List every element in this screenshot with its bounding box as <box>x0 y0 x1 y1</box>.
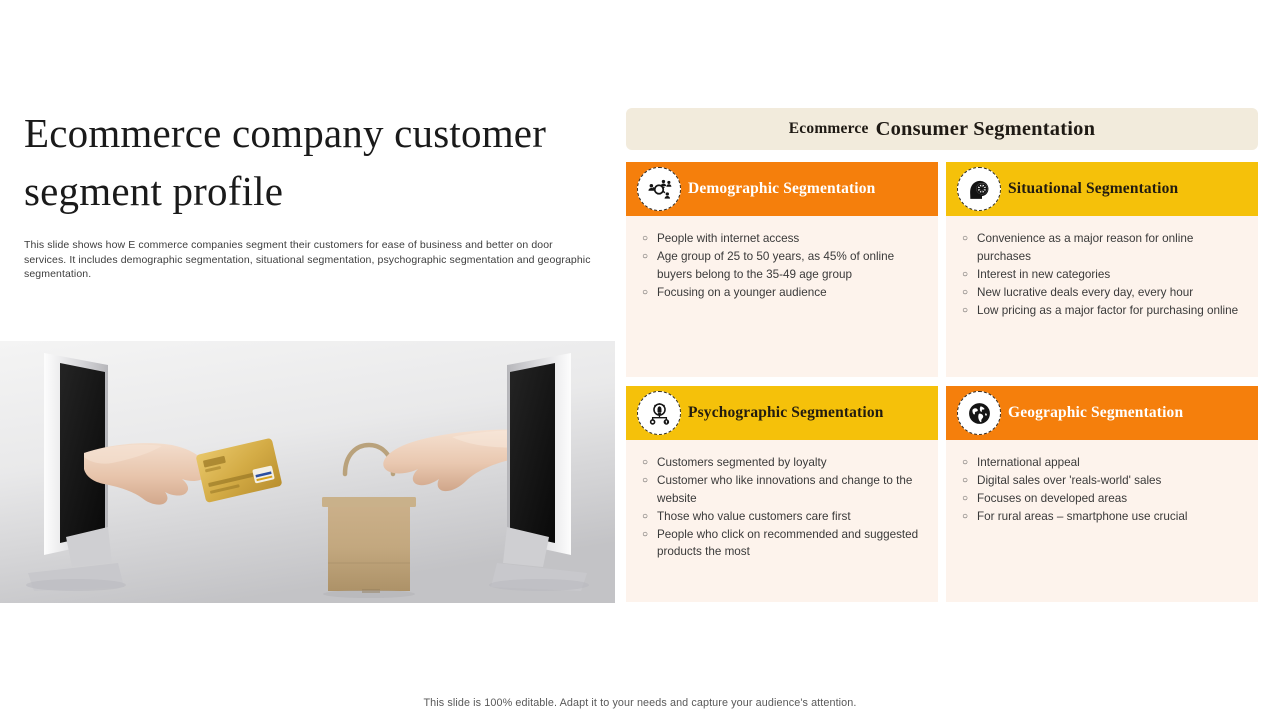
card-title-situational: Situational Segmentation <box>1008 180 1178 198</box>
bullet-marker: ○ <box>642 230 657 248</box>
bullet-text: International appeal <box>977 454 1246 472</box>
card-title-geographic: Geographic Segmentation <box>1008 404 1183 422</box>
list-item: ○ Age group of 25 to 50 years, as 45% of… <box>642 248 926 283</box>
bullet-list-situational: ○ Convenience as a major reason for onli… <box>962 230 1246 319</box>
bullet-text: For rural areas – smartphone use crucial <box>977 508 1246 526</box>
segmentation-panel: Ecommerce Consumer Segmentation <box>626 108 1258 602</box>
bullet-marker: ○ <box>642 526 657 544</box>
badge-situational <box>957 167 1001 211</box>
list-item: ○ Those who value customers care first <box>642 508 926 526</box>
banner-emphasis: Consumer Segmentation <box>876 118 1096 141</box>
card-body-psychographic: ○ Customers segmented by loyalty ○ Custo… <box>626 440 938 602</box>
list-item: ○ People who click on recommended and su… <box>642 526 926 561</box>
list-item: ○ Digital sales over 'reals-world' sales <box>962 472 1246 490</box>
bullet-marker: ○ <box>962 454 977 472</box>
slide-description: This slide shows how E commerce companie… <box>24 238 594 282</box>
list-item: ○ Focuses on developed areas <box>962 490 1246 508</box>
bullet-list-psychographic: ○ Customers segmented by loyalty ○ Custo… <box>642 454 926 561</box>
list-item: ○ New lucrative deals every day, every h… <box>962 284 1246 302</box>
list-item: ○ Focusing on a younger audience <box>642 284 926 302</box>
bullet-text: Digital sales over 'reals-world' sales <box>977 472 1246 490</box>
ecommerce-hands-monitors-photo <box>0 341 615 603</box>
list-item: ○ Customers segmented by loyalty <box>642 454 926 472</box>
list-item: ○ Interest in new categories <box>962 266 1246 284</box>
bullet-marker: ○ <box>962 490 977 508</box>
bullet-marker: ○ <box>962 230 977 248</box>
bullet-marker: ○ <box>962 302 977 320</box>
bullet-text: Convenience as a major reason for online… <box>977 230 1246 265</box>
card-situational[interactable]: Situational Segmentation ○ Convenience a… <box>946 162 1258 377</box>
slide-intro-block: Ecommerce company customer segment profi… <box>24 104 616 282</box>
list-item: ○ Low pricing as a major factor for purc… <box>962 302 1246 320</box>
page-title: Ecommerce company customer segment profi… <box>24 104 616 220</box>
bullet-marker: ○ <box>642 472 657 490</box>
list-item: ○ For rural areas – smartphone use cruci… <box>962 508 1246 526</box>
card-body-situational: ○ Convenience as a major reason for onli… <box>946 216 1258 377</box>
bullet-text: Customers segmented by loyalty <box>657 454 926 472</box>
banner-prefix: Ecommerce <box>789 120 869 138</box>
card-geographic[interactable]: Geographic Segmentation ○ International … <box>946 386 1258 602</box>
bullet-text: Focuses on developed areas <box>977 490 1246 508</box>
bullet-text: Those who value customers care first <box>657 508 926 526</box>
bullet-marker: ○ <box>642 508 657 526</box>
bullet-text: New lucrative deals every day, every hou… <box>977 284 1246 302</box>
panel-banner: Ecommerce Consumer Segmentation <box>626 108 1258 150</box>
list-item: ○ International appeal <box>962 454 1246 472</box>
bullet-marker: ○ <box>642 454 657 472</box>
bullet-marker: ○ <box>642 248 657 266</box>
badge-psychographic <box>637 391 681 435</box>
list-item: ○ Convenience as a major reason for onli… <box>962 230 1246 265</box>
bullet-text: Age group of 25 to 50 years, as 45% of o… <box>657 248 926 283</box>
photo-illustration <box>0 341 615 603</box>
bullet-text: Interest in new categories <box>977 266 1246 284</box>
bullet-list-geographic: ○ International appeal ○ Digital sales o… <box>962 454 1246 526</box>
bullet-marker: ○ <box>962 508 977 526</box>
head-with-gear-icon <box>962 172 997 207</box>
lightbulb-idea-icon <box>642 396 677 431</box>
bullet-marker: ○ <box>962 284 977 302</box>
card-header-demographic: Demographic Segmentation <box>626 162 938 216</box>
card-title-psychographic: Psychographic Segmentation <box>688 404 884 422</box>
card-psychographic[interactable]: Psychographic Segmentation ○ Customers s… <box>626 386 938 602</box>
card-header-psychographic: Psychographic Segmentation <box>626 386 938 440</box>
badge-geographic <box>957 391 1001 435</box>
card-title-demographic: Demographic Segmentation <box>688 180 875 198</box>
list-item: ○ People with internet access <box>642 230 926 248</box>
card-demographic[interactable]: Demographic Segmentation ○ People with i… <box>626 162 938 377</box>
bullet-marker: ○ <box>962 472 977 490</box>
card-header-geographic: Geographic Segmentation <box>946 386 1258 440</box>
list-item: ○ Customer who like innovations and chan… <box>642 472 926 507</box>
bullet-list-demographic: ○ People with internet access ○ Age grou… <box>642 230 926 301</box>
bullet-marker: ○ <box>962 266 977 284</box>
globe-icon <box>962 396 997 431</box>
bullet-text: Customer who like innovations and change… <box>657 472 926 507</box>
badge-demographic <box>637 167 681 211</box>
segmentation-card-grid: Demographic Segmentation ○ People with i… <box>626 162 1258 602</box>
card-header-situational: Situational Segmentation <box>946 162 1258 216</box>
editable-footer-note: This slide is 100% editable. Adapt it to… <box>0 697 1280 709</box>
bullet-text: People who click on recommended and sugg… <box>657 526 926 561</box>
bullet-text: Low pricing as a major factor for purcha… <box>977 302 1246 320</box>
card-body-geographic: ○ International appeal ○ Digital sales o… <box>946 440 1258 602</box>
bullet-marker: ○ <box>642 284 657 302</box>
people-network-icon <box>642 172 677 207</box>
bullet-text: People with internet access <box>657 230 926 248</box>
bullet-text: Focusing on a younger audience <box>657 284 926 302</box>
card-body-demographic: ○ People with internet access ○ Age grou… <box>626 216 938 377</box>
